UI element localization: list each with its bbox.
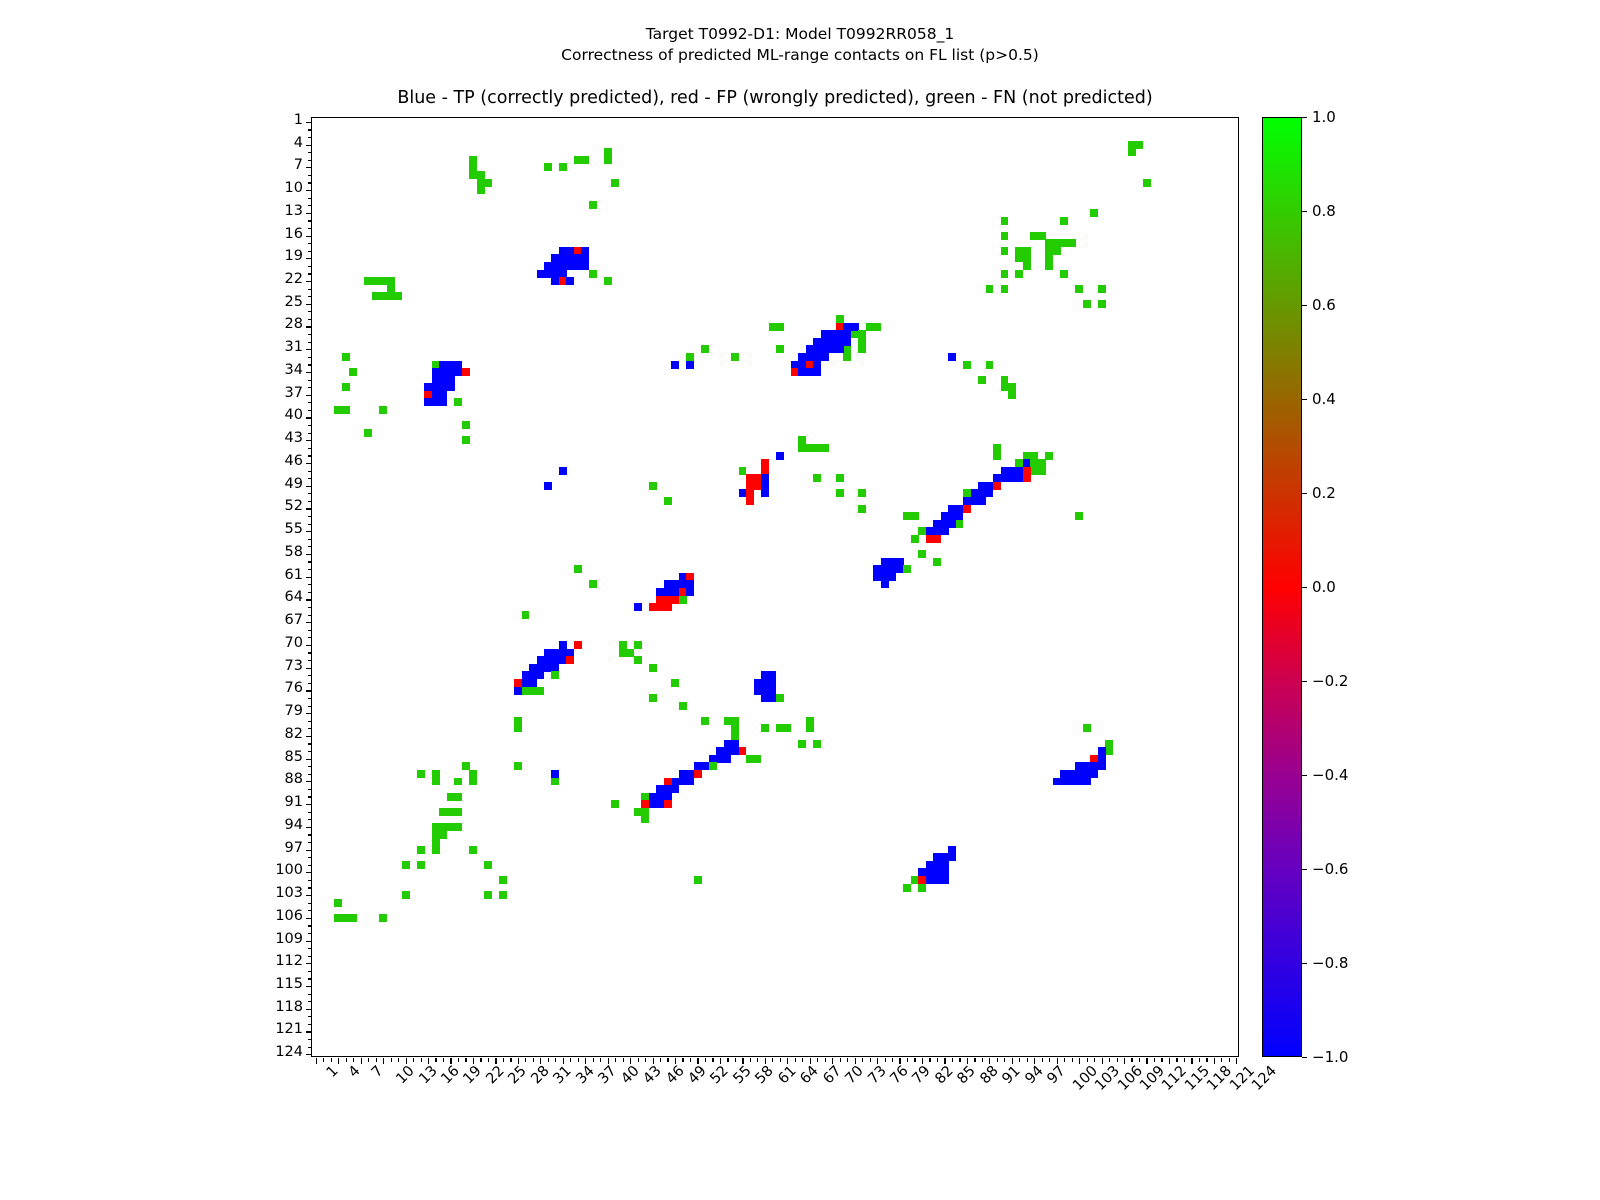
suptitle-line-1: Target T0992-D1: Model T0992RR058_1 [0, 24, 1600, 45]
x-tick [376, 1058, 377, 1062]
y-tick [308, 933, 312, 934]
contact-cell-fn [1135, 141, 1143, 149]
contact-cell-fn [432, 838, 440, 854]
x-tick-label: 79 [910, 1063, 934, 1087]
contact-cell-fn [522, 611, 530, 619]
y-tick [306, 804, 312, 805]
contact-cell-tp [881, 580, 889, 588]
contact-cell-fn [918, 550, 926, 558]
contact-cell-fn [956, 520, 964, 528]
y-tick [308, 903, 312, 904]
y-tick-label: 124 [275, 1044, 303, 1060]
x-tick [615, 1058, 616, 1062]
y-tick [308, 198, 312, 199]
y-tick [306, 736, 312, 737]
y-tick [308, 175, 312, 176]
contact-cell-fn [1008, 383, 1016, 399]
y-tick [308, 865, 312, 866]
x-tick-label: 37 [596, 1063, 620, 1087]
x-tick [817, 1058, 818, 1062]
contact-map-plot[interactable] [311, 117, 1239, 1057]
y-tick [308, 448, 312, 449]
figure-suptitle: Target T0992-D1: Model T0992RR058_1 Corr… [0, 24, 1600, 66]
y-tick [306, 372, 312, 373]
axes-title-legend: Blue - TP (correctly predicted), red - F… [311, 88, 1239, 108]
contact-cell-tp [761, 474, 769, 497]
x-tick [480, 1058, 481, 1062]
y-tick [308, 243, 312, 244]
y-tick [308, 311, 312, 312]
y-tick [308, 273, 312, 274]
contact-cell-fn [499, 876, 507, 884]
x-tick [750, 1058, 751, 1062]
y-tick-label: 43 [285, 430, 303, 446]
contact-cell-fn [484, 861, 492, 869]
contact-cell-fn [761, 724, 769, 732]
y-tick [308, 524, 312, 525]
y-tick [308, 994, 312, 995]
contact-cell-fn [1001, 217, 1009, 225]
x-tick [735, 1058, 736, 1062]
x-tick [1154, 1058, 1155, 1062]
contact-cell-fn [604, 148, 612, 164]
contact-cell-fn [1105, 740, 1113, 756]
y-tick [306, 236, 312, 237]
contact-cell-tp [948, 353, 956, 361]
x-tick [458, 1058, 459, 1062]
y-tick [308, 637, 312, 638]
y-tick [308, 387, 312, 388]
contact-cell-fn [544, 163, 552, 171]
y-tick [308, 774, 312, 775]
x-tick-label: 73 [865, 1063, 889, 1087]
y-tick-label: 1 [294, 112, 303, 128]
x-tick [1206, 1058, 1207, 1062]
contact-cell-fn [439, 808, 462, 816]
y-tick [306, 531, 312, 532]
y-tick-label: 91 [285, 794, 303, 810]
x-tick [413, 1058, 414, 1062]
contact-cell-fn [379, 406, 387, 414]
y-tick [308, 182, 312, 183]
y-tick [308, 660, 312, 661]
x-tick-label: 10 [393, 1063, 417, 1087]
contact-cell-fn [933, 558, 941, 566]
contact-cell-tp [634, 603, 642, 611]
contact-cell-fn [342, 353, 350, 361]
colorbar-tick [1302, 1057, 1307, 1058]
y-tick [308, 160, 312, 161]
y-tick [308, 1039, 312, 1040]
x-tick [1161, 1058, 1162, 1062]
y-tick [306, 349, 312, 350]
x-tick [368, 1058, 369, 1062]
x-tick [488, 1058, 489, 1062]
contact-cell-fn [522, 687, 545, 695]
contact-cell-fp [462, 368, 470, 376]
y-tick [308, 455, 312, 456]
colorbar-tick-label: 0.4 [1312, 390, 1336, 408]
x-tick-label: 55 [730, 1063, 754, 1087]
contact-cell-fn [798, 740, 806, 748]
y-tick [308, 228, 312, 229]
y-tick-label: 109 [275, 931, 303, 947]
y-tick-label: 73 [285, 658, 303, 674]
x-tick-label: 49 [685, 1063, 709, 1087]
contact-map-cells [312, 118, 1238, 1056]
x-tick [600, 1058, 601, 1062]
colorbar-tick [1302, 399, 1307, 400]
contact-cell-fn [709, 762, 717, 770]
colorbar-tick [1302, 117, 1307, 118]
x-tick-label: 25 [506, 1063, 530, 1087]
contact-cell-fp [649, 603, 672, 611]
y-tick-label: 112 [275, 953, 303, 969]
contact-cell-fn [1023, 247, 1031, 270]
y-tick [308, 251, 312, 252]
contact-cell-fn [634, 656, 642, 664]
y-tick [306, 554, 312, 555]
contact-cell-fn [866, 323, 881, 331]
x-tick [892, 1058, 893, 1062]
x-tick [1117, 1058, 1118, 1062]
y-tick [308, 834, 312, 835]
x-tick [870, 1058, 871, 1062]
y-tick [308, 493, 312, 494]
contact-cell-fn [776, 345, 784, 353]
y-tick-label: 100 [275, 862, 303, 878]
contact-cell-fn [776, 694, 784, 702]
y-tick [308, 615, 312, 616]
contact-cell-fn [903, 565, 911, 573]
x-tick [997, 1058, 998, 1062]
x-tick [885, 1058, 886, 1062]
x-tick-label: 52 [708, 1063, 732, 1087]
colorbar-tick-label: −0.2 [1312, 672, 1348, 690]
y-tick [308, 812, 312, 813]
contact-cell-fn [858, 330, 866, 346]
contact-cell-fn [432, 778, 440, 786]
contact-cell-fn [342, 383, 350, 391]
y-tick [308, 516, 312, 517]
contact-cell-fn [417, 861, 425, 869]
y-tick [308, 561, 312, 562]
contact-cell-fn [813, 474, 821, 482]
y-tick [308, 675, 312, 676]
y-tick [308, 425, 312, 426]
y-tick-label: 10 [285, 180, 303, 196]
x-tick-label: 85 [955, 1063, 979, 1087]
y-tick [308, 971, 312, 972]
contact-cell-fn [858, 345, 866, 353]
y-tick [308, 296, 312, 297]
y-tick [308, 137, 312, 138]
x-tick-label: 16 [438, 1063, 462, 1087]
contact-cell-tp [776, 452, 784, 460]
y-tick-label: 28 [285, 316, 303, 332]
contact-cell-fn [649, 664, 657, 672]
x-tick [421, 1058, 422, 1062]
contact-cell-tp [1068, 778, 1091, 786]
contact-cell-fp [664, 800, 672, 808]
y-tick [308, 1001, 312, 1002]
contact-cell-fn [986, 361, 994, 369]
x-tick [682, 1058, 683, 1062]
y-tick-label: 88 [285, 771, 303, 787]
y-tick-label: 103 [275, 885, 303, 901]
contact-cell-fn [1045, 452, 1053, 460]
y-tick-label: 7 [294, 157, 303, 173]
y-tick [306, 395, 312, 396]
x-tick [533, 1058, 534, 1062]
contact-cell-fp [926, 535, 941, 543]
contact-cell-fn [1001, 285, 1009, 293]
contact-cell-tp [566, 277, 574, 285]
colorbar-tick [1302, 963, 1307, 964]
contact-cell-tp [933, 853, 956, 861]
x-tick-label: 58 [753, 1063, 777, 1087]
y-tick [308, 842, 312, 843]
x-tick [353, 1058, 354, 1062]
y-tick [308, 978, 312, 979]
y-tick-label: 4 [294, 135, 303, 151]
contact-cell-fn [574, 156, 589, 164]
y-tick [306, 918, 312, 919]
x-tick [1139, 1058, 1140, 1062]
contact-cell-fn [484, 891, 492, 899]
contact-cell-fn [514, 762, 522, 770]
y-tick [308, 319, 312, 320]
contact-cell-fn [694, 876, 702, 884]
x-tick [1221, 1058, 1222, 1062]
x-tick [638, 1058, 639, 1062]
x-tick [705, 1058, 706, 1062]
y-tick-label: 67 [285, 612, 303, 628]
contact-cell-fn [334, 899, 342, 907]
colorbar-gradient [1262, 117, 1302, 1057]
contact-cell-fn [1001, 270, 1009, 278]
y-tick [306, 145, 312, 146]
x-tick-label: 124 [1249, 1063, 1280, 1094]
x-tick-label: 46 [663, 1063, 687, 1087]
x-tick-label: 40 [618, 1063, 642, 1087]
contact-cell-tp [761, 694, 776, 702]
y-tick [306, 986, 312, 987]
x-tick-label: 28 [528, 1063, 552, 1087]
y-tick [308, 956, 312, 957]
x-tick [1199, 1058, 1200, 1062]
contact-cell-fn [963, 361, 971, 369]
contact-cell-fn [918, 527, 926, 535]
y-tick [306, 1009, 312, 1010]
x-tick [1087, 1058, 1088, 1062]
contact-cell-fn [1098, 285, 1106, 293]
contact-cell-fn [649, 482, 657, 490]
contact-cell-fn [843, 353, 851, 361]
contact-cell-fn [671, 679, 679, 687]
y-tick-label: 115 [275, 976, 303, 992]
y-tick [308, 501, 312, 502]
contact-cell-tp [686, 588, 694, 596]
x-tick [443, 1058, 444, 1062]
colorbar-tick [1302, 211, 1307, 212]
y-tick [308, 1047, 312, 1048]
y-tick [306, 668, 312, 669]
colorbar-tick [1302, 493, 1307, 494]
x-tick [929, 1058, 930, 1062]
contact-cell-fn [1045, 254, 1053, 270]
contact-cell-tp [544, 482, 552, 490]
contact-cell-fp [746, 474, 754, 505]
contact-cell-fn [1060, 217, 1068, 225]
contact-cell-fn [454, 778, 462, 786]
y-tick-label: 64 [285, 589, 303, 605]
contact-cell-fn [551, 778, 559, 786]
y-tick [308, 925, 312, 926]
y-tick-label: 106 [275, 908, 303, 924]
y-tick [306, 486, 312, 487]
y-tick [308, 1024, 312, 1025]
contact-cell-tp [1053, 778, 1068, 786]
y-tick [308, 569, 312, 570]
x-tick-label: 82 [932, 1063, 956, 1087]
y-tick [308, 857, 312, 858]
y-tick [308, 910, 312, 911]
y-tick-label: 37 [285, 385, 303, 401]
y-tick [306, 963, 312, 964]
contact-cell-fn [469, 778, 477, 786]
y-tick-label: 55 [285, 521, 303, 537]
y-tick-label: 61 [285, 567, 303, 583]
x-tick [660, 1058, 661, 1062]
contact-cell-fn [604, 277, 612, 285]
x-tick-label: 70 [843, 1063, 867, 1087]
colorbar: 1.00.80.60.40.20.0−0.2−0.4−0.6−0.8−1.0 [1262, 117, 1302, 1057]
x-tick [1049, 1058, 1050, 1062]
contact-cell-fp [566, 656, 574, 664]
x-tick-label: 4 [346, 1063, 364, 1081]
contact-cell-fp [993, 482, 1001, 490]
contact-cell-fn [1075, 285, 1083, 293]
contact-cell-fn [447, 793, 462, 801]
x-tick [398, 1058, 399, 1062]
contact-cell-fn [402, 861, 410, 869]
y-tick [308, 289, 312, 290]
x-tick-label: 34 [573, 1063, 597, 1087]
y-tick [306, 326, 312, 327]
y-tick [308, 819, 312, 820]
contact-cell-fn [1083, 724, 1091, 732]
contact-cell-fn [462, 436, 470, 444]
y-tick [306, 577, 312, 578]
x-tick [952, 1058, 953, 1062]
x-tick [510, 1058, 511, 1062]
contact-cell-fn [858, 505, 866, 513]
contact-cell-fn [379, 914, 387, 922]
x-tick [1094, 1058, 1095, 1062]
x-tick [465, 1058, 466, 1062]
y-tick [306, 599, 312, 600]
contact-cell-tp [926, 876, 949, 884]
contact-cell-fn [349, 368, 357, 376]
y-tick [308, 129, 312, 130]
y-tick [308, 546, 312, 547]
contact-cell-fp [963, 505, 971, 513]
x-tick [346, 1058, 347, 1062]
y-tick-label: 19 [285, 248, 303, 264]
y-tick-label: 76 [285, 680, 303, 696]
contact-cell-tp [424, 398, 447, 406]
y-tick [308, 607, 312, 608]
y-tick [308, 728, 312, 729]
y-tick [308, 471, 312, 472]
x-tick [1004, 1058, 1005, 1062]
contact-cell-tp [559, 467, 567, 475]
x-tick [862, 1058, 863, 1062]
colorbar-tick [1302, 775, 1307, 776]
colorbar-tick-label: 0.2 [1312, 484, 1336, 502]
contact-cell-fn [462, 421, 470, 429]
y-tick [308, 357, 312, 358]
x-tick-label: 22 [483, 1063, 507, 1087]
y-tick-label: 85 [285, 749, 303, 765]
x-tick-label: 19 [461, 1063, 485, 1087]
y-tick [306, 690, 312, 691]
x-tick-label: 67 [820, 1063, 844, 1087]
contact-cell-fn [1060, 270, 1068, 278]
x-tick-label: 31 [551, 1063, 575, 1087]
contact-cell-fn [1090, 209, 1098, 217]
colorbar-tick-label: −0.4 [1312, 766, 1348, 784]
x-tick [825, 1058, 826, 1062]
y-tick-label: 70 [285, 635, 303, 651]
x-tick [645, 1058, 646, 1062]
y-tick-label: 22 [285, 271, 303, 287]
contact-cell-fn [679, 702, 687, 710]
y-tick [306, 645, 312, 646]
y-tick [308, 706, 312, 707]
contact-cell-fn [402, 891, 410, 899]
x-tick [772, 1058, 773, 1062]
y-tick [308, 402, 312, 403]
y-tick [308, 683, 312, 684]
contact-cell-fn [746, 755, 761, 763]
colorbar-tick-label: 0.0 [1312, 578, 1336, 596]
y-tick-label: 97 [285, 840, 303, 856]
y-tick [308, 630, 312, 631]
contact-cell-tp [918, 868, 948, 876]
contact-cell-fn [731, 353, 739, 361]
y-tick [308, 1016, 312, 1017]
contact-cell-fn [858, 489, 866, 497]
x-tick [525, 1058, 526, 1062]
x-tick [623, 1058, 624, 1062]
y-tick [306, 213, 312, 214]
contact-cell-fn [454, 398, 462, 406]
x-tick [578, 1058, 579, 1062]
y-tick [306, 463, 312, 464]
y-tick [308, 652, 312, 653]
contact-cell-fn [499, 891, 507, 899]
y-tick [308, 342, 312, 343]
colorbar-tick-label: −1.0 [1312, 1048, 1348, 1066]
x-tick [802, 1058, 803, 1062]
y-tick-label: 16 [285, 226, 303, 242]
x-tick [1042, 1058, 1043, 1062]
y-tick [308, 887, 312, 888]
x-tick [795, 1058, 796, 1062]
contact-cell-fn [372, 292, 402, 300]
